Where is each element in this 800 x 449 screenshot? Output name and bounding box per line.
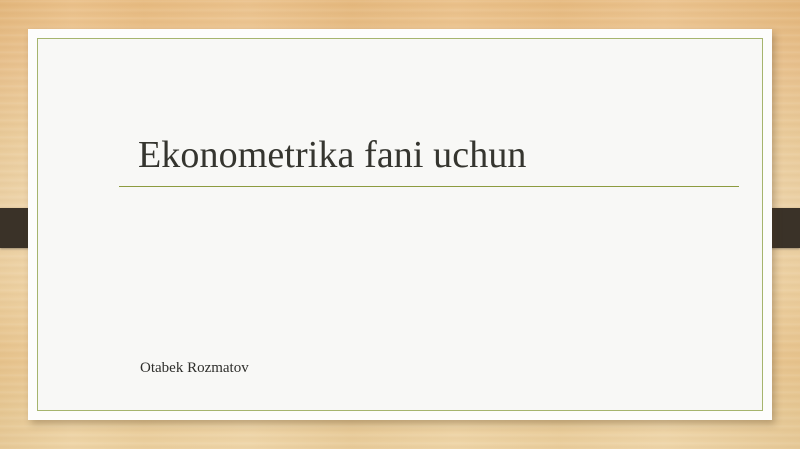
slide-card: Ekonometrika fani uchun Otabek Rozmatov: [28, 29, 772, 420]
slide-stage: Ekonometrika fani uchun Otabek Rozmatov: [0, 0, 800, 449]
slide-subtitle[interactable]: Otabek Rozmatov: [140, 360, 249, 377]
title-placeholder[interactable]: Ekonometrika fani uchun: [119, 133, 739, 187]
card-inner-border: [37, 38, 763, 411]
title-underline-rule: [119, 186, 739, 187]
page-title[interactable]: Ekonometrika fani uchun: [119, 133, 739, 178]
